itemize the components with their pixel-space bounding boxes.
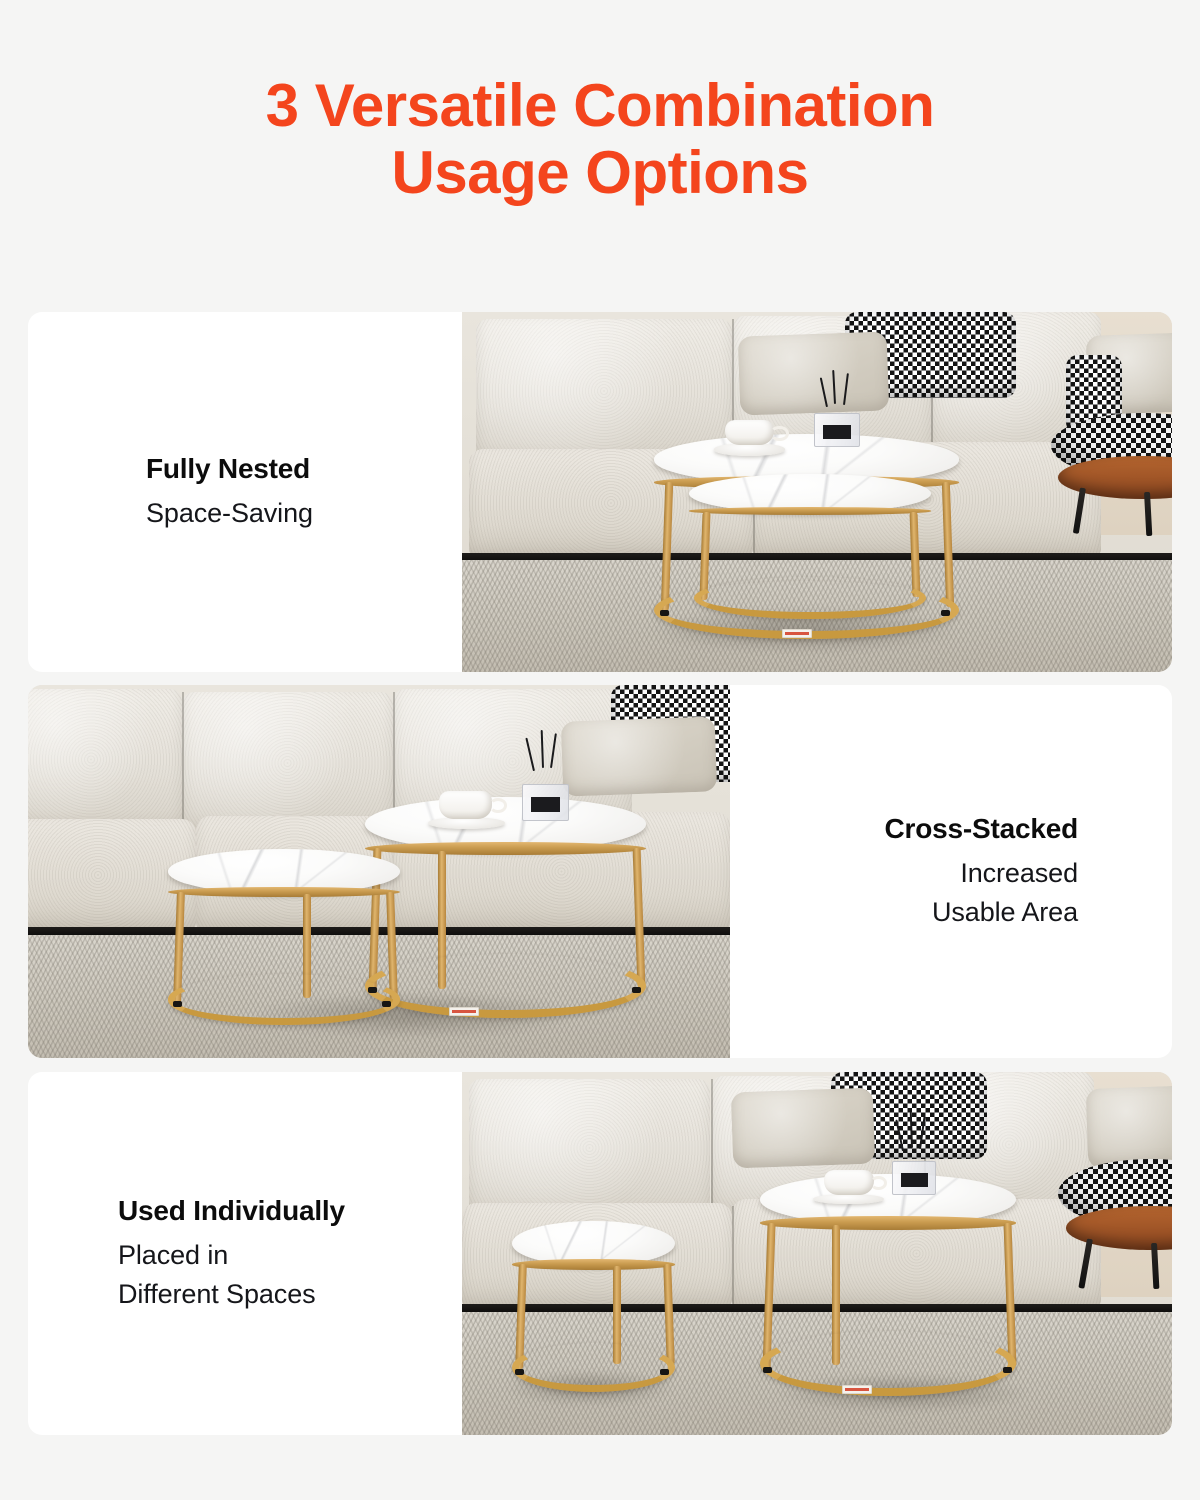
table-small	[168, 849, 400, 1028]
page-title: 3 Versatile Combination Usage Options	[0, 72, 1200, 206]
table-small-base-ring	[694, 577, 926, 619]
coffee-cup	[725, 420, 775, 445]
reed-diffuser-bottle	[522, 784, 568, 821]
table-small-base-ring	[512, 1343, 675, 1392]
table-large	[365, 797, 646, 1021]
sofa-seam-1	[182, 692, 184, 834]
card-text-fully-nested: Fully Nested Space-Saving	[28, 312, 462, 672]
table-large-base-ring	[760, 1331, 1016, 1396]
saucer	[714, 443, 785, 455]
table-small-leg-right	[663, 1264, 675, 1365]
feature-card-used-individually: Used Individually Placed in Different Sp…	[28, 1072, 1172, 1435]
photo-cross-stacked	[28, 685, 730, 1058]
infographic-page: 3 Versatile Combination Usage Options Fu…	[0, 0, 1200, 1500]
card-subline-1: Placed in	[118, 1236, 228, 1274]
table-large-foot-left	[660, 610, 669, 616]
cup-handle	[870, 1176, 887, 1190]
table-large-foot-right	[632, 987, 641, 993]
chair-pillow-beige	[1085, 1085, 1172, 1169]
table-small-leg-right	[910, 512, 921, 597]
table-small	[689, 474, 930, 625]
table-small-foot-right	[660, 1369, 669, 1375]
pillow-beige	[731, 1088, 876, 1169]
table-large-leg-right	[942, 482, 954, 607]
card-heading: Fully Nested	[146, 452, 310, 486]
sofa-back-left	[469, 1079, 710, 1217]
feature-card-fully-nested: Fully Nested Space-Saving	[28, 312, 1172, 672]
pillow-beige	[560, 716, 717, 796]
feature-card-cross-stacked: Cross-Stacked Increased Usable Area	[28, 685, 1172, 1058]
sofa-back-mid	[182, 692, 393, 834]
table-small-base-ring	[168, 974, 400, 1024]
table-large-leg-right	[632, 848, 645, 987]
sofa-seam-1	[711, 1079, 713, 1217]
table-large-rim	[760, 1216, 1016, 1230]
diffuser-label	[531, 797, 559, 812]
sofa-back-left	[28, 689, 182, 831]
table-small-rim	[512, 1259, 675, 1269]
title-line-1: 3 Versatile Combination	[266, 72, 935, 139]
brand-tag	[449, 1007, 479, 1016]
coffee-cup	[824, 1170, 874, 1195]
card-subline-1: Increased	[960, 854, 1078, 892]
brand-tag	[842, 1385, 872, 1394]
cup-handle	[770, 426, 788, 440]
card-heading: Cross-Stacked	[885, 812, 1078, 846]
card-subline-2: Usable Area	[932, 893, 1078, 931]
table-small-rim	[689, 507, 930, 515]
diffuser-label	[823, 425, 851, 439]
photo-fully-nested	[462, 312, 1172, 672]
sofa-seat-seam	[732, 1206, 734, 1308]
table-large-foot-left	[763, 1367, 772, 1373]
table-large-foot-right	[941, 610, 950, 616]
table-small-rim	[168, 887, 400, 898]
reed-diffuser-bottle	[892, 1161, 936, 1195]
card-subline-1: Space-Saving	[146, 494, 313, 532]
card-text-used-individually: Used Individually Placed in Different Sp…	[28, 1072, 462, 1435]
table-large-rim	[365, 842, 646, 855]
table-large-leg-right	[1003, 1223, 1016, 1367]
card-subline-2: Different Spaces	[118, 1275, 316, 1313]
table-small-foot-right	[382, 1001, 391, 1007]
table-large-leg-left	[661, 482, 674, 612]
table-large-foot-right	[1003, 1367, 1012, 1373]
card-heading: Used Individually	[118, 1194, 345, 1228]
table-large	[760, 1174, 1016, 1399]
table-small	[512, 1221, 675, 1395]
table-small-leg-right	[387, 892, 399, 1000]
diffuser-label	[901, 1173, 928, 1187]
card-text-cross-stacked: Cross-Stacked Increased Usable Area	[730, 685, 1172, 1058]
photo-used-individually	[462, 1072, 1172, 1435]
reed-diffuser-bottle	[814, 413, 859, 447]
table-small-foot-left	[515, 1369, 524, 1375]
coffee-cup	[439, 791, 492, 819]
pillow-beige	[738, 331, 890, 415]
table-large-base-ring	[365, 954, 646, 1019]
brand-tag	[782, 629, 812, 638]
title-line-2: Usage Options	[0, 139, 1200, 206]
table-small-foot-left	[173, 1001, 182, 1007]
cup-handle	[489, 798, 507, 813]
